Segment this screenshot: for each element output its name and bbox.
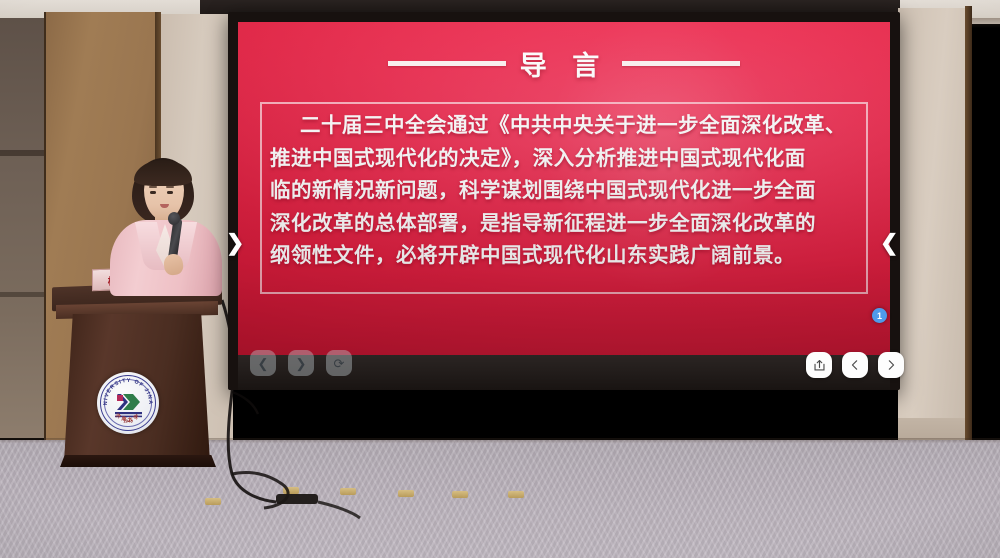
speaker-brow-left	[149, 186, 157, 188]
floor-outlet	[508, 491, 524, 498]
slide-action-controls	[806, 352, 904, 378]
share-button[interactable]	[806, 352, 832, 378]
slide-body-line: 深化改革的总体部署，是指导新征程进一步全面深化改革的	[270, 208, 860, 241]
previous-slide-button[interactable]	[842, 352, 868, 378]
playback-play-icon[interactable]: ❯	[288, 350, 314, 376]
speaker-brow-right	[166, 186, 174, 188]
speaker-figure	[104, 158, 228, 293]
led-screen: 导 言 二十届三中全会通过《中共中央关于进一步全面深化改革、 推进中国式现代化的…	[238, 22, 890, 362]
slide-title: 导 言	[520, 44, 609, 83]
wood-panel-right	[970, 2, 1000, 452]
speaker-eye-right	[167, 191, 173, 194]
title-rule-left	[388, 61, 506, 66]
slide-body-line: 纲领性文件，必将开辟中国式现代化山东实践广阔前景。	[270, 240, 860, 273]
edge-prev-chevron-right-icon[interactable]: ❯	[226, 232, 244, 254]
emblem-graphic: UNIVERSITY OF JINAN 1948 济南大学	[97, 372, 159, 434]
floor-outlet	[283, 487, 299, 494]
slide-body-line: 临的新情况新问题，科学谋划围绕中国式现代化进一步全面	[270, 175, 860, 208]
presentation-scene: 杨 某 伟 UNIVERSITY OF JINAN 1948 济南大学	[0, 0, 1000, 558]
podium-base	[60, 455, 216, 467]
wall-column-right	[898, 8, 970, 448]
wall-shelf-lower	[0, 292, 44, 297]
playback-previous-chevron-left-icon[interactable]: ❮	[250, 350, 276, 376]
floor-outlet	[452, 491, 468, 498]
floor-outlet	[205, 498, 221, 505]
slide-title-row: 导 言	[238, 44, 890, 83]
university-of-jinan-emblem: UNIVERSITY OF JINAN 1948 济南大学	[97, 372, 159, 434]
wall-recess-left	[0, 18, 44, 438]
slide-body-line: 二十届三中全会通过《中共中央关于进一步全面深化改革、	[270, 110, 860, 143]
speaker-fringe	[134, 160, 192, 186]
playback-reload-icon[interactable]: ⟳	[326, 350, 352, 376]
floor-outlet	[340, 488, 356, 495]
chevron-left-icon	[849, 359, 861, 371]
playback-controls: ❮ ❯ ⟳	[250, 350, 352, 376]
share-icon	[813, 359, 826, 372]
page-number-badge: 1	[872, 308, 887, 323]
wall-shelf-upper	[0, 150, 44, 156]
chevron-right-icon	[885, 359, 897, 371]
slide-body-line: 推进中国式现代化的决定》，深入分析推进中国式现代化面	[270, 143, 860, 176]
speaker-eye-left	[150, 191, 156, 194]
title-rule-right	[622, 61, 740, 66]
edge-next-chevron-left-icon[interactable]: ❮	[880, 232, 898, 254]
floor-outlet	[398, 490, 414, 497]
next-slide-button[interactable]	[878, 352, 904, 378]
slide-body-text: 二十届三中全会通过《中共中央关于进一步全面深化改革、 推进中国式现代化的决定》，…	[270, 110, 860, 273]
